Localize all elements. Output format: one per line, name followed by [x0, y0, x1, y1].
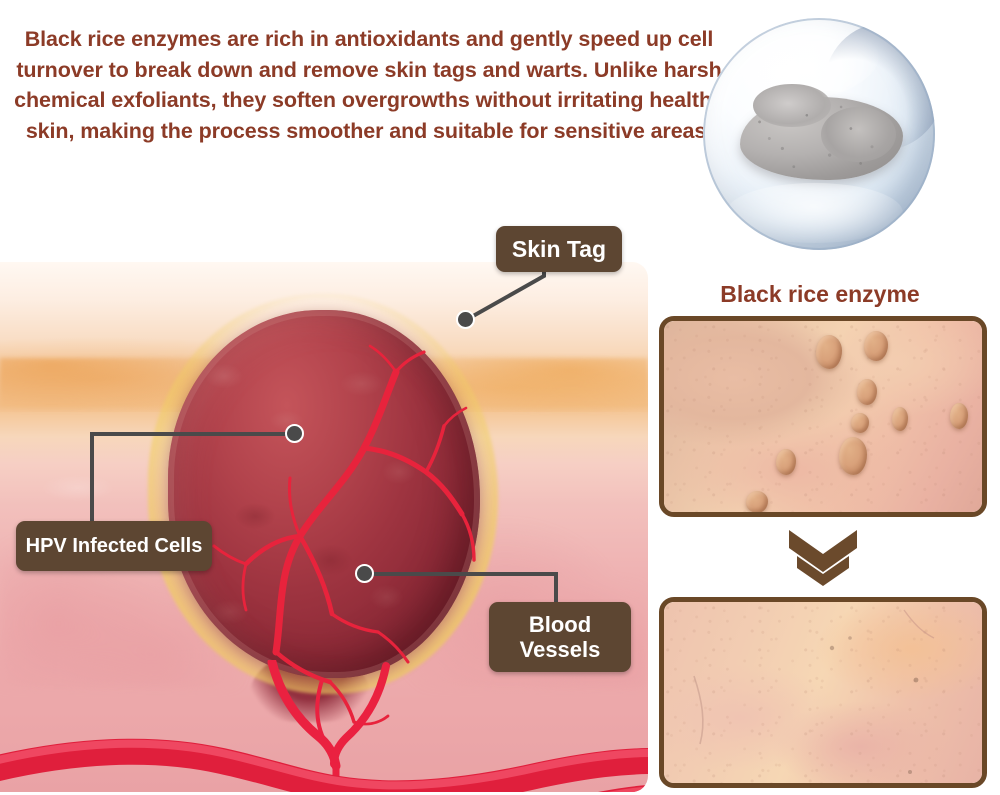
transition-arrow	[783, 528, 863, 588]
callout-blood-label-line1: Blood	[520, 612, 601, 637]
skin-tag-bump	[950, 403, 968, 429]
callout-hpv-label: HPV Infected Cells	[26, 535, 203, 558]
skin-tag-bump	[746, 491, 768, 513]
after-skin-creases	[664, 602, 982, 783]
callout-skin-tag-label: Skin Tag	[512, 236, 606, 262]
leader-dot-blood-vessels	[355, 564, 374, 583]
skin-tag-bump	[816, 335, 842, 369]
after-photo	[659, 597, 987, 788]
before-photo	[659, 316, 987, 517]
headline-paragraph: Black rice enzymes are rich in antioxida…	[6, 24, 732, 146]
ingredient-caption: Black rice enzyme	[660, 281, 980, 308]
sphere-rim	[703, 18, 935, 250]
ingredient-sphere	[703, 18, 935, 250]
skin-tag-bump	[892, 407, 908, 431]
callout-blood-label-line2: Vessels	[520, 637, 601, 662]
callout-skin-tag[interactable]: Skin Tag	[496, 226, 622, 272]
leader-dot-hpv	[285, 424, 304, 443]
skin-tag-bump	[864, 331, 888, 361]
skin-tag-bump	[857, 379, 877, 405]
skin-tag-bump	[851, 413, 869, 433]
skin-tag-bump	[839, 437, 867, 475]
callout-hpv-infected-cells[interactable]: HPV Infected Cells	[16, 521, 212, 571]
skin-tag-bump	[776, 449, 796, 475]
leader-dot-skin-tag	[456, 310, 475, 329]
double-chevron-down-icon	[783, 528, 863, 588]
infographic-page: Black rice enzymes are rich in antioxida…	[0, 0, 1000, 795]
glass-sphere-icon	[703, 18, 935, 250]
callout-blood-vessels[interactable]: Blood Vessels	[489, 602, 631, 672]
